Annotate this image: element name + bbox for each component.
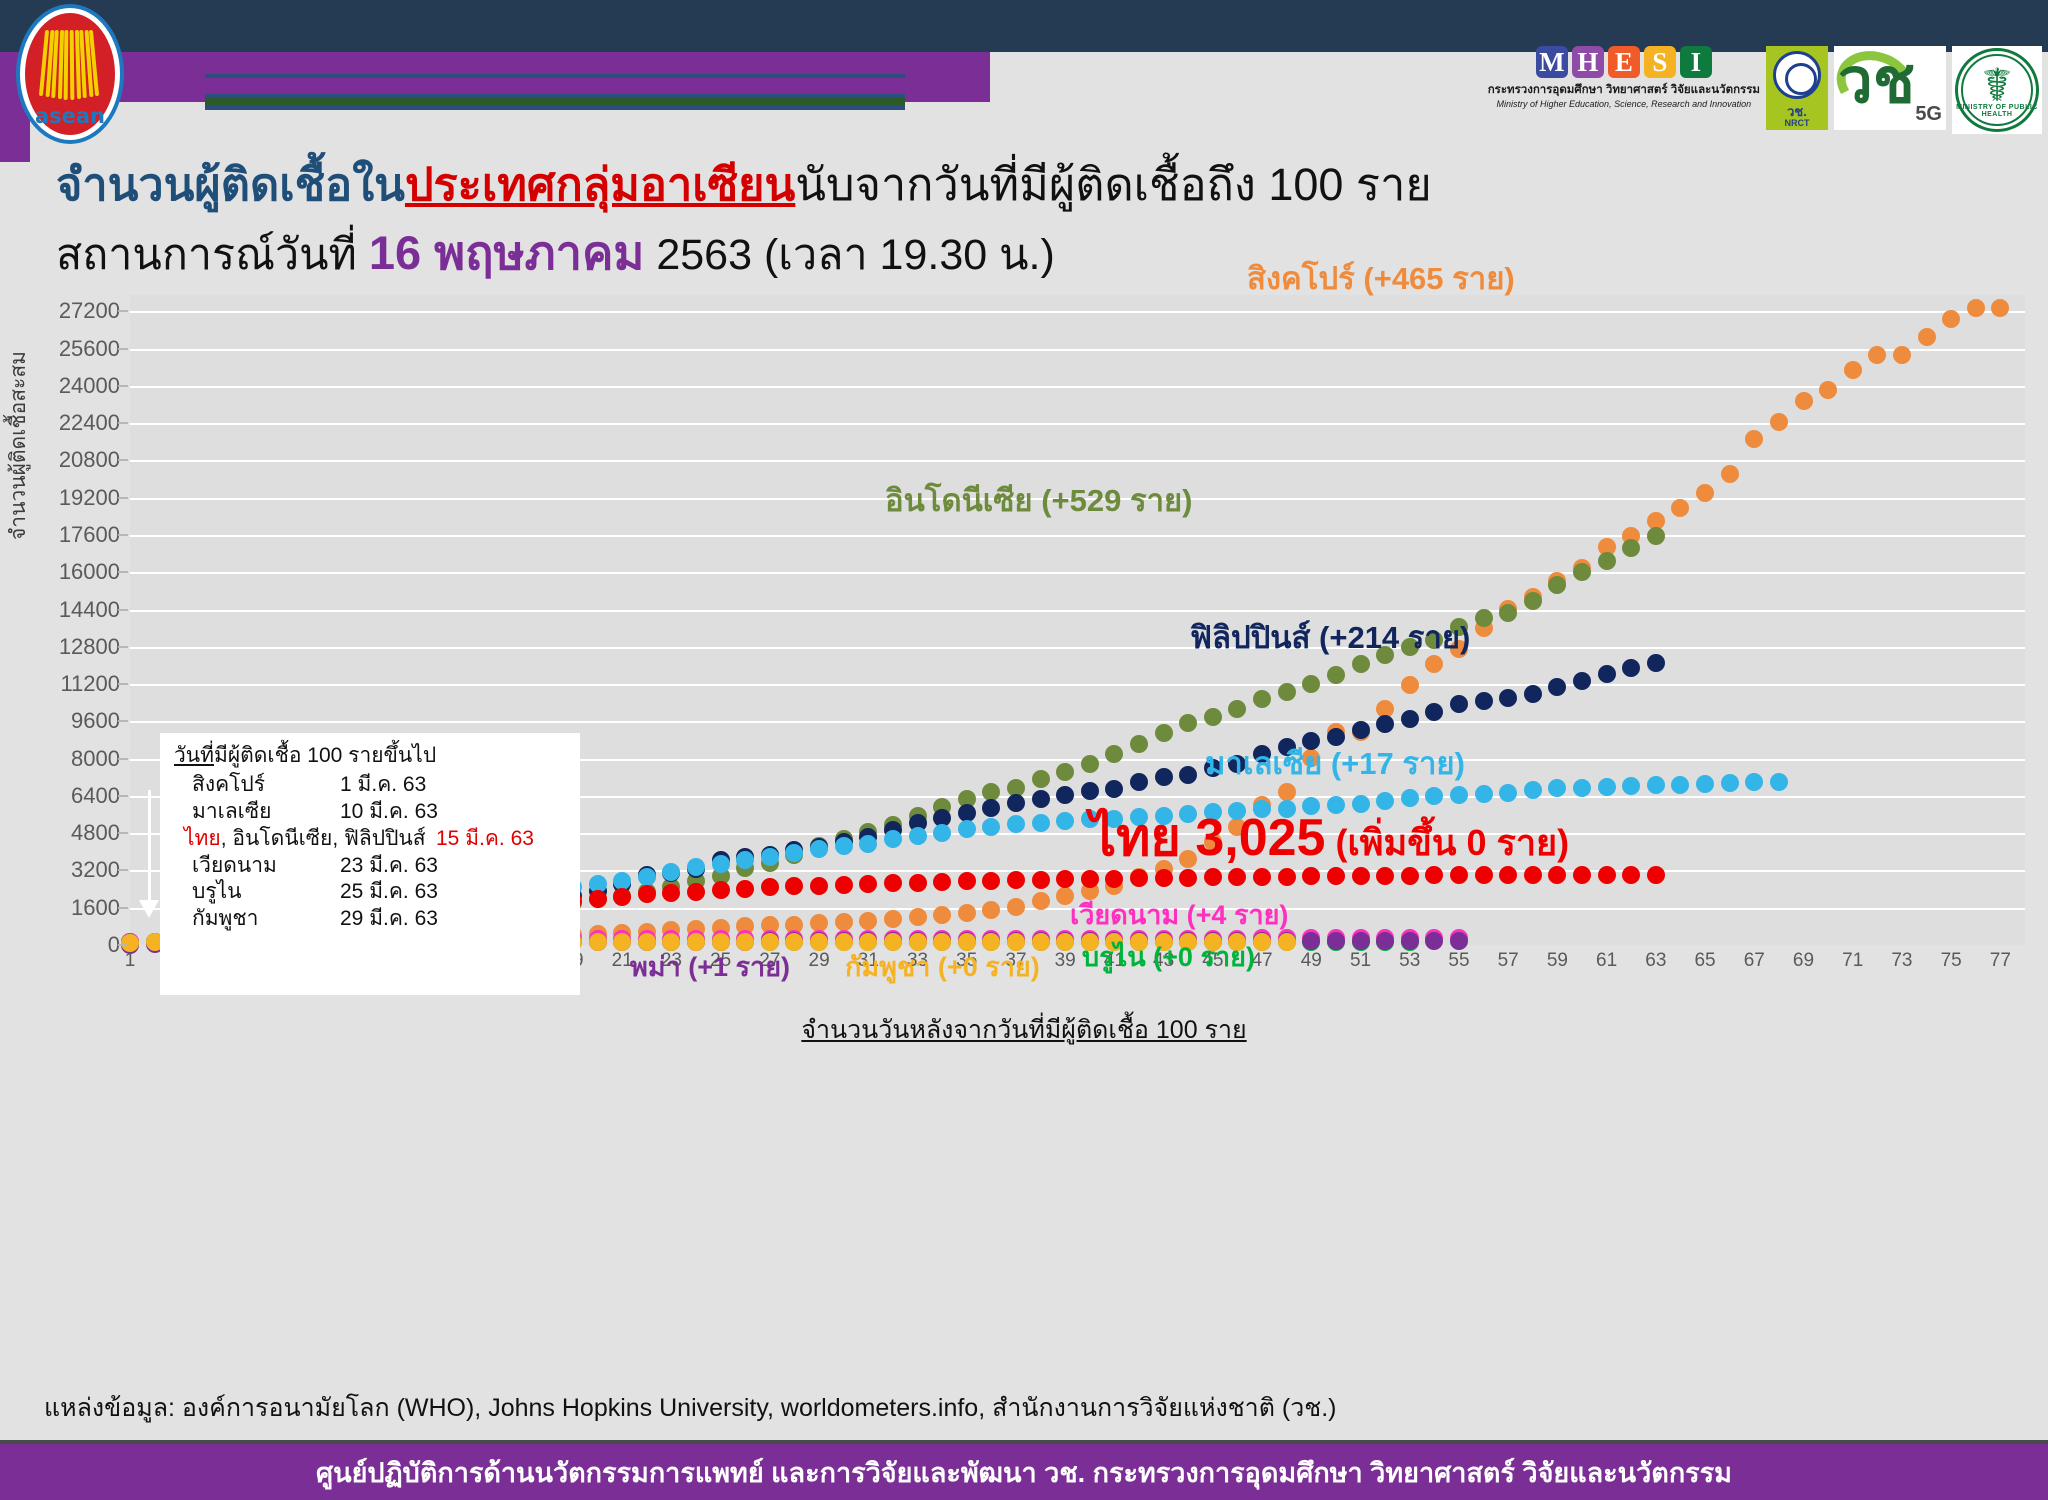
data-point-ฟิลิปปินส์ — [1450, 695, 1468, 713]
status-date-value: 16 พฤษภาคม — [369, 226, 645, 279]
legend-country: มาเลเซีย — [192, 799, 340, 826]
data-point-มาเลเซีย — [810, 840, 828, 858]
data-point-สิงคโปร์ — [1770, 413, 1788, 431]
data-point-ฟิลิปปินส์ — [1032, 790, 1050, 808]
data-point-ฟิลิปปินส์ — [1376, 715, 1394, 733]
wch-5g-logo: วช 5G — [1834, 46, 1946, 130]
legend-heading-underlined: วันที่ — [174, 744, 214, 767]
thailand-delta-label: (เพิ่มขึ้น 0 ราย) — [1325, 822, 1569, 863]
data-point-ฟิลิปปินส์ — [1499, 689, 1517, 707]
data-point-ฟิลิปปินส์ — [1425, 703, 1443, 721]
data-point-สิงคโปร์ — [1967, 299, 1985, 317]
data-point-มาเลเซีย — [1721, 774, 1739, 792]
wch-5g-badge: 5G — [1915, 103, 1942, 126]
x-axis-tick-label: 61 — [1596, 950, 1617, 972]
data-point-ไทย — [662, 884, 680, 902]
x-axis-tick-label: 75 — [1941, 950, 1962, 972]
data-point-มาเลเซีย — [712, 855, 730, 873]
data-point-ฟิลิปปินส์ — [1548, 678, 1566, 696]
data-point-มาเลเซีย — [1770, 773, 1788, 791]
data-point-ไทย — [909, 874, 927, 892]
nrct-logo: วช. NRCT — [1766, 46, 1828, 130]
x-axis-tick-label: 59 — [1547, 950, 1568, 972]
data-point-อินโดนีเซีย — [1327, 666, 1345, 684]
y-axis-tick-mark — [118, 720, 128, 722]
chart-gridline — [130, 386, 2025, 388]
data-point-ไทย — [933, 873, 951, 891]
data-point-สิงคโปร์ — [884, 910, 902, 928]
x-axis-tick-label: 53 — [1399, 950, 1420, 972]
data-point-มาเลเซีย — [1056, 812, 1074, 830]
data-point-สิงคโปร์ — [1893, 346, 1911, 364]
data-point-ไทย — [736, 880, 754, 898]
y-axis-tick-mark — [118, 310, 128, 312]
data-point-มาเลเซีย — [613, 872, 631, 890]
y-axis-title: จำนวนผู้ติดเชื้อสะสม — [2, 500, 35, 540]
data-point-ไทย — [1647, 866, 1665, 884]
data-point-สิงคโปร์ — [909, 908, 927, 926]
data-point-ไทย — [589, 890, 607, 908]
y-axis-tick-mark — [118, 534, 128, 536]
data-point-อินโดนีเซีย — [1278, 683, 1296, 701]
mhesi-letter-blocks: MHESI — [1536, 46, 1712, 78]
data-point-ฟิลิปปินส์ — [1155, 768, 1173, 786]
x-axis-tick-label: 65 — [1694, 950, 1715, 972]
data-point-สิงคโปร์ — [1795, 392, 1813, 410]
data-point-พม่า — [1425, 932, 1443, 950]
data-point-มาเลเซีย — [835, 837, 853, 855]
legend-country: บรูไน — [192, 879, 340, 906]
data-point-สิงคโปร์ — [1696, 484, 1714, 502]
x-axis-tick-label: 55 — [1448, 950, 1469, 972]
data-point-สิงคโปร์ — [1401, 676, 1419, 694]
nrct-abbrev: วช. NRCT — [1766, 105, 1828, 128]
mhesi-letter-h: H — [1572, 46, 1604, 78]
data-point-ไทย — [687, 883, 705, 901]
x-axis-tick-label: 69 — [1793, 950, 1814, 972]
data-point-ฟิลิปปินส์ — [1130, 773, 1148, 791]
chart-gridline — [130, 460, 2025, 462]
legend-date: 1 มี.ค. 63 — [340, 772, 426, 799]
data-point-ไทย — [785, 877, 803, 895]
data-point-อินโดนีเซีย — [1081, 755, 1099, 773]
data-point-อินโดนีเซีย — [1105, 745, 1123, 763]
series-label-พม่า: พม่า (+1 ราย) — [630, 945, 790, 988]
mhesi-thai-name: กระทรวงการอุดมศึกษา วิทยาศาสตร์ วิจัยและ… — [1488, 81, 1760, 99]
y-axis-tick-mark — [118, 758, 128, 760]
data-point-ไทย — [1056, 870, 1074, 888]
x-axis-tick-label: 49 — [1301, 950, 1322, 972]
x-axis-tick-label: 63 — [1645, 950, 1666, 972]
y-axis-tick-label: 11200 — [60, 671, 120, 697]
data-point-มาเลเซีย — [1032, 814, 1050, 832]
legend-row: สิงคโปร์1 มี.ค. 63 — [174, 772, 566, 799]
data-point-มาเลเซีย — [859, 835, 877, 853]
data-point-สิงคโปร์ — [1032, 892, 1050, 910]
wch-glyph: วช — [1838, 50, 1926, 112]
series-label-เวียดนาม: เวียดนาม (+4 ราย) — [1070, 893, 1288, 936]
data-point-สิงคโปร์ — [1991, 299, 2009, 317]
data-point-สิงคโปร์ — [933, 906, 951, 924]
chart-gridline — [130, 684, 2025, 686]
data-point-ไทย — [638, 885, 656, 903]
data-point-อินโดนีเซีย — [1155, 724, 1173, 742]
moph-english-ring-text: MINISTRY OF PUBLIC HEALTH — [1952, 104, 2042, 118]
x-axis-tick-label: 29 — [809, 950, 830, 972]
legend-country: เวียดนาม — [192, 853, 340, 880]
status-date-prefix: สถานการณ์วันที่ — [56, 231, 357, 279]
data-point-มาเลเซีย — [933, 824, 951, 842]
data-point-มาเลเซีย — [761, 848, 779, 866]
nrct-wheel-icon — [1773, 51, 1821, 99]
x-axis-tick-label: 73 — [1891, 950, 1912, 972]
x-axis-tick-label: 71 — [1842, 950, 1863, 972]
data-point-อินโดนีเซีย — [1032, 770, 1050, 788]
data-point-อินโดนีเซีย — [1204, 708, 1222, 726]
y-axis-tick-mark — [118, 832, 128, 834]
y-axis-tick-mark — [118, 348, 128, 350]
data-point-มาเลเซีย — [909, 827, 927, 845]
data-point-อินโดนีเซีย — [1573, 563, 1591, 581]
data-point-สิงคโปร์ — [859, 912, 877, 930]
series-label-กัมพูชา: กัมพูชา (+0 ราย) — [845, 945, 1040, 988]
x-axis-title: จำนวนวันหลังจากวันที่มีผู้ติดเชื้อ 100 ร… — [0, 1010, 2048, 1050]
data-point-พม่า — [1376, 932, 1394, 950]
x-axis-tick-label: 51 — [1350, 950, 1371, 972]
y-axis-tick-mark — [118, 385, 128, 387]
chart-gridline — [130, 572, 2025, 574]
data-point-ฟิลิปปินส์ — [1622, 659, 1640, 677]
chart-gridline — [130, 311, 2025, 313]
data-point-ไทย — [1032, 871, 1050, 889]
data-point-ไทย — [982, 872, 1000, 890]
data-point-สิงคโปร์ — [1868, 346, 1886, 364]
data-point-สิงคโปร์ — [1942, 310, 1960, 328]
series-label-บรูไน: บรูไน (+0 ราย) — [1082, 935, 1255, 978]
asean-rice-stalk — [70, 30, 75, 100]
data-point-สิงคโปร์ — [1844, 361, 1862, 379]
data-point-ไทย — [835, 876, 853, 894]
data-point-มาเลเซีย — [1647, 776, 1665, 794]
status-date-suffix: 2563 (เวลา 19.30 น.) — [656, 231, 1054, 279]
legend-country: ไทย, อินโดนีเซีย, ฟิลิปปินส์ — [184, 826, 436, 853]
top-navy-band — [0, 0, 2048, 52]
y-axis-tick-mark — [118, 571, 128, 573]
y-axis-tick-label: 17600 — [59, 522, 120, 548]
series-label-thailand: ไทย 3,025 (เพิ่มขึ้น 0 ราย) — [1090, 795, 1569, 878]
y-axis-tick-label: 6400 — [71, 783, 120, 809]
data-point-พม่า — [1450, 932, 1468, 950]
y-axis-tick-label: 3200 — [71, 857, 120, 883]
annotation-arrow-head-icon — [139, 900, 159, 918]
data-point-ฟิลิปปินส์ — [1401, 710, 1419, 728]
data-point-มาเลเซีย — [1007, 815, 1025, 833]
y-axis-tick-mark — [118, 497, 128, 499]
data-point-มาเลเซีย — [638, 868, 656, 886]
legend-row: ไทย, อินโดนีเซีย, ฟิลิปปินส์15 มี.ค. 63 — [174, 826, 566, 853]
y-axis-tick-label: 25600 — [59, 336, 120, 362]
footer-text: ศูนย์ปฏิบัติการด้านนวัตกรรมการแพทย์ และก… — [0, 1444, 2048, 1500]
data-point-มาเลเซีย — [1745, 773, 1763, 791]
asean-rice-stalks — [42, 30, 98, 100]
data-point-อินโดนีเซีย — [1302, 675, 1320, 693]
data-point-มาเลเซีย — [958, 820, 976, 838]
series-label-ฟิลิปปินส์: ฟิลิปปินส์ (+214 ราย) — [1190, 612, 1470, 662]
data-point-อินโดนีเซีย — [1524, 592, 1542, 610]
y-axis-tick-mark — [118, 459, 128, 461]
data-point-ไทย — [712, 881, 730, 899]
legend-row: เวียดนาม23 มี.ค. 63 — [174, 853, 566, 880]
data-point-สิงคโปร์ — [1671, 499, 1689, 517]
data-point-สิงคโปร์ — [982, 901, 1000, 919]
data-point-กัมพูชา — [613, 933, 631, 951]
y-axis-tick-mark — [118, 609, 128, 611]
series-label-อินโดนีเซีย: อินโดนีเซีย (+529 ราย) — [885, 475, 1193, 525]
data-point-พม่า — [1401, 932, 1419, 950]
legend-date: 29 มี.ค. 63 — [340, 906, 438, 933]
data-point-ฟิลิปปินส์ — [1352, 721, 1370, 739]
x-axis-tick-label: 57 — [1498, 950, 1519, 972]
y-axis-tick-mark — [118, 944, 128, 946]
data-point-ฟิลิปปินส์ — [1007, 794, 1025, 812]
first-100-cases-legend-box: วันที่มีผู้ติดเชื้อ 100 รายขึ้นไป สิงคโป… — [160, 733, 580, 995]
page-title-line2: สถานการณ์วันที่ 16 พฤษภาคม 2563 (เวลา 19… — [56, 215, 1055, 290]
legend-date: 23 มี.ค. 63 — [340, 853, 438, 880]
nrct-abbrev-thai: วช. — [1766, 105, 1828, 119]
data-point-สิงคโปร์ — [1918, 328, 1936, 346]
data-point-ไทย — [1573, 866, 1591, 884]
y-axis-tick-mark — [118, 646, 128, 648]
data-point-อินโดนีเซีย — [1253, 690, 1271, 708]
accent-line-blue-bottom — [205, 106, 905, 110]
data-point-สิงคโปร์ — [1007, 898, 1025, 916]
legend-date: 15 มี.ค. 63 — [436, 826, 534, 853]
asean-logo-label: asean — [20, 104, 120, 128]
legend-row: บรูไน25 มี.ค. 63 — [174, 879, 566, 906]
thailand-total-label: ไทย 3,025 — [1090, 809, 1325, 867]
mhesi-letter-s: S — [1644, 46, 1676, 78]
legend-country: สิงคโปร์ — [192, 772, 340, 799]
x-axis-tick-label: 77 — [1990, 950, 2011, 972]
legend-row-list: สิงคโปร์1 มี.ค. 63มาเลเซีย10 มี.ค. 63ไทย… — [174, 772, 566, 933]
x-axis-title-text: จำนวนวันหลังจากวันที่มีผู้ติดเชื้อ 100 ร… — [801, 1016, 1246, 1044]
legend-country: กัมพูชา — [192, 906, 340, 933]
chart-gridline — [130, 423, 2025, 425]
data-point-ไทย — [761, 878, 779, 896]
data-point-ฟิลิปปินส์ — [1179, 766, 1197, 784]
x-axis-tick-label: 1 — [125, 950, 136, 972]
accent-line-blue-top — [205, 74, 905, 78]
chart-gridline — [130, 647, 2025, 649]
data-point-สิงคโปร์ — [958, 904, 976, 922]
y-axis-tick-mark — [118, 907, 128, 909]
y-axis-tick-label: 9600 — [71, 708, 120, 734]
x-axis-tick-label: 67 — [1744, 950, 1765, 972]
mhesi-english-name: Ministry of Higher Education, Science, R… — [1497, 99, 1752, 109]
legend-date: 10 มี.ค. 63 — [340, 799, 438, 826]
series-label-มาเลเซีย: มาเลเซีย (+17 ราย) — [1205, 738, 1465, 788]
chart-gridline — [130, 721, 2025, 723]
y-axis-tick-label: 16000 — [59, 559, 120, 585]
data-point-ไทย — [1007, 871, 1025, 889]
series-label-สิงคโปร์: สิงคโปร์ (+465 ราย) — [1247, 253, 1515, 303]
y-axis-tick-label: 20800 — [59, 447, 120, 473]
partner-logo-strip: MHESI กระทรวงการอุดมศึกษา วิทยาศาสตร์ วิ… — [1488, 46, 2042, 142]
data-point-อินโดนีเซีย — [1130, 735, 1148, 753]
data-point-กัมพูชา — [810, 933, 828, 951]
data-point-พม่า — [1327, 932, 1345, 950]
y-axis-tick-mark — [118, 795, 128, 797]
data-point-ไทย — [613, 888, 631, 906]
data-point-สิงคโปร์ — [835, 913, 853, 931]
data-point-อินโดนีเซีย — [1499, 604, 1517, 622]
y-axis-tick-mark — [118, 422, 128, 424]
nrct-abbrev-en: NRCT — [1766, 119, 1828, 128]
data-point-มาเลเซีย — [884, 830, 902, 848]
data-point-มาเลเซีย — [1622, 777, 1640, 795]
asean-logo: asean — [20, 8, 120, 140]
data-point-กัมพูชา — [589, 933, 607, 951]
data-point-อินโดนีเซีย — [1598, 552, 1616, 570]
data-point-ไทย — [958, 872, 976, 890]
y-axis-tick-label: 27200 — [59, 298, 120, 324]
legend-row: กัมพูชา29 มี.ค. 63 — [174, 906, 566, 933]
mhesi-letter-i: I — [1680, 46, 1712, 78]
data-point-อินโดนีเซีย — [1622, 539, 1640, 557]
data-point-สิงคโปร์ — [1721, 465, 1739, 483]
asean-rice-stalk — [64, 30, 69, 100]
data-point-ฟิลิปปินส์ — [1598, 665, 1616, 683]
page-title-line1: จำนวนผู้ติดเชื้อในประเทศกลุ่มอาเซียนนับจ… — [56, 148, 1432, 220]
data-point-สิงคโปร์ — [1819, 381, 1837, 399]
title-part-blue: จำนวนผู้ติดเชื้อใน — [56, 159, 405, 210]
mhesi-logo: MHESI กระทรวงการอุดมศึกษา วิทยาศาสตร์ วิ… — [1488, 46, 1760, 109]
title-part-red: ประเทศกลุ่มอาเซียน — [405, 159, 795, 210]
accent-line-green — [205, 98, 905, 106]
data-point-ไทย — [884, 874, 902, 892]
legend-date: 25 มี.ค. 63 — [340, 879, 438, 906]
legend-heading-rest: มีผู้ติดเชื้อ 100 รายขึ้นไป — [214, 744, 436, 767]
data-point-ไทย — [810, 877, 828, 895]
y-axis-tick-label: 8000 — [71, 746, 120, 772]
y-axis-tick-label: 12800 — [59, 634, 120, 660]
data-point-พม่า — [1352, 932, 1370, 950]
y-axis-tick-label: 19200 — [59, 485, 120, 511]
legend-country-thailand: ไทย — [184, 827, 221, 850]
data-point-ฟิลิปปินส์ — [982, 799, 1000, 817]
legend-heading: วันที่มีผู้ติดเชื้อ 100 รายขึ้นไป — [174, 743, 566, 770]
y-axis-tick-mark — [118, 869, 128, 871]
y-axis-tick-mark — [118, 683, 128, 685]
data-point-มาเลเซีย — [1573, 779, 1591, 797]
title-part-black: นับจากวันที่มีผู้ติดเชื้อถึง 100 ราย — [795, 159, 1431, 210]
data-point-อินโดนีเซีย — [1179, 714, 1197, 732]
data-point-สิงคโปร์ — [1745, 430, 1763, 448]
data-source-line: แหล่งข้อมูล: องค์การอนามัยโลก (WHO), Joh… — [44, 1388, 1336, 1428]
data-point-ฟิลิปปินส์ — [1056, 786, 1074, 804]
y-axis-tick-label: 22400 — [59, 410, 120, 436]
data-point-อินโดนีเซีย — [1647, 527, 1665, 545]
mhesi-letter-m: M — [1536, 46, 1568, 78]
y-axis-tick-label: 1600 — [71, 895, 120, 921]
data-point-ฟิลิปปินส์ — [1475, 692, 1493, 710]
data-point-ไทย — [859, 875, 877, 893]
data-point-ไทย — [1622, 866, 1640, 884]
y-axis-tick-label: 14400 — [59, 597, 120, 623]
data-point-ฟิลิปปินส์ — [1647, 654, 1665, 672]
caduceus-icon: ☤ — [1982, 62, 2013, 108]
x-axis-tick-label: 39 — [1055, 950, 1076, 972]
annotation-arrow-line — [148, 790, 151, 910]
legend-row: มาเลเซีย10 มี.ค. 63 — [174, 799, 566, 826]
data-point-มาเลเซีย — [1696, 775, 1714, 793]
data-point-มาเลเซีย — [1671, 776, 1689, 794]
data-point-มาเลเซีย — [1598, 778, 1616, 796]
chart-gridline — [130, 535, 2025, 537]
chart-gridline — [130, 610, 2025, 612]
data-point-อินโดนีเซีย — [1228, 700, 1246, 718]
y-axis-tick-label: 24000 — [59, 373, 120, 399]
moph-logo: ☤ MINISTRY OF PUBLIC HEALTH — [1952, 46, 2042, 134]
data-point-อินโดนีเซีย — [1475, 609, 1493, 627]
data-point-ฟิลิปปินส์ — [1573, 672, 1591, 690]
data-point-ไทย — [1598, 866, 1616, 884]
data-point-มาเลเซีย — [736, 851, 754, 869]
y-axis-tick-label: 4800 — [71, 820, 120, 846]
data-point-ฟิลิปปินส์ — [1524, 685, 1542, 703]
footer-band: ศูนย์ปฏิบัติการด้านนวัตกรรมการแพทย์ และก… — [0, 1444, 2048, 1500]
chart-gridline — [130, 349, 2025, 351]
data-point-พม่า — [1302, 932, 1320, 950]
data-point-อินโดนีเซีย — [1548, 576, 1566, 594]
mhesi-letter-e: E — [1608, 46, 1640, 78]
data-point-อินโดนีเซีย — [1056, 763, 1074, 781]
